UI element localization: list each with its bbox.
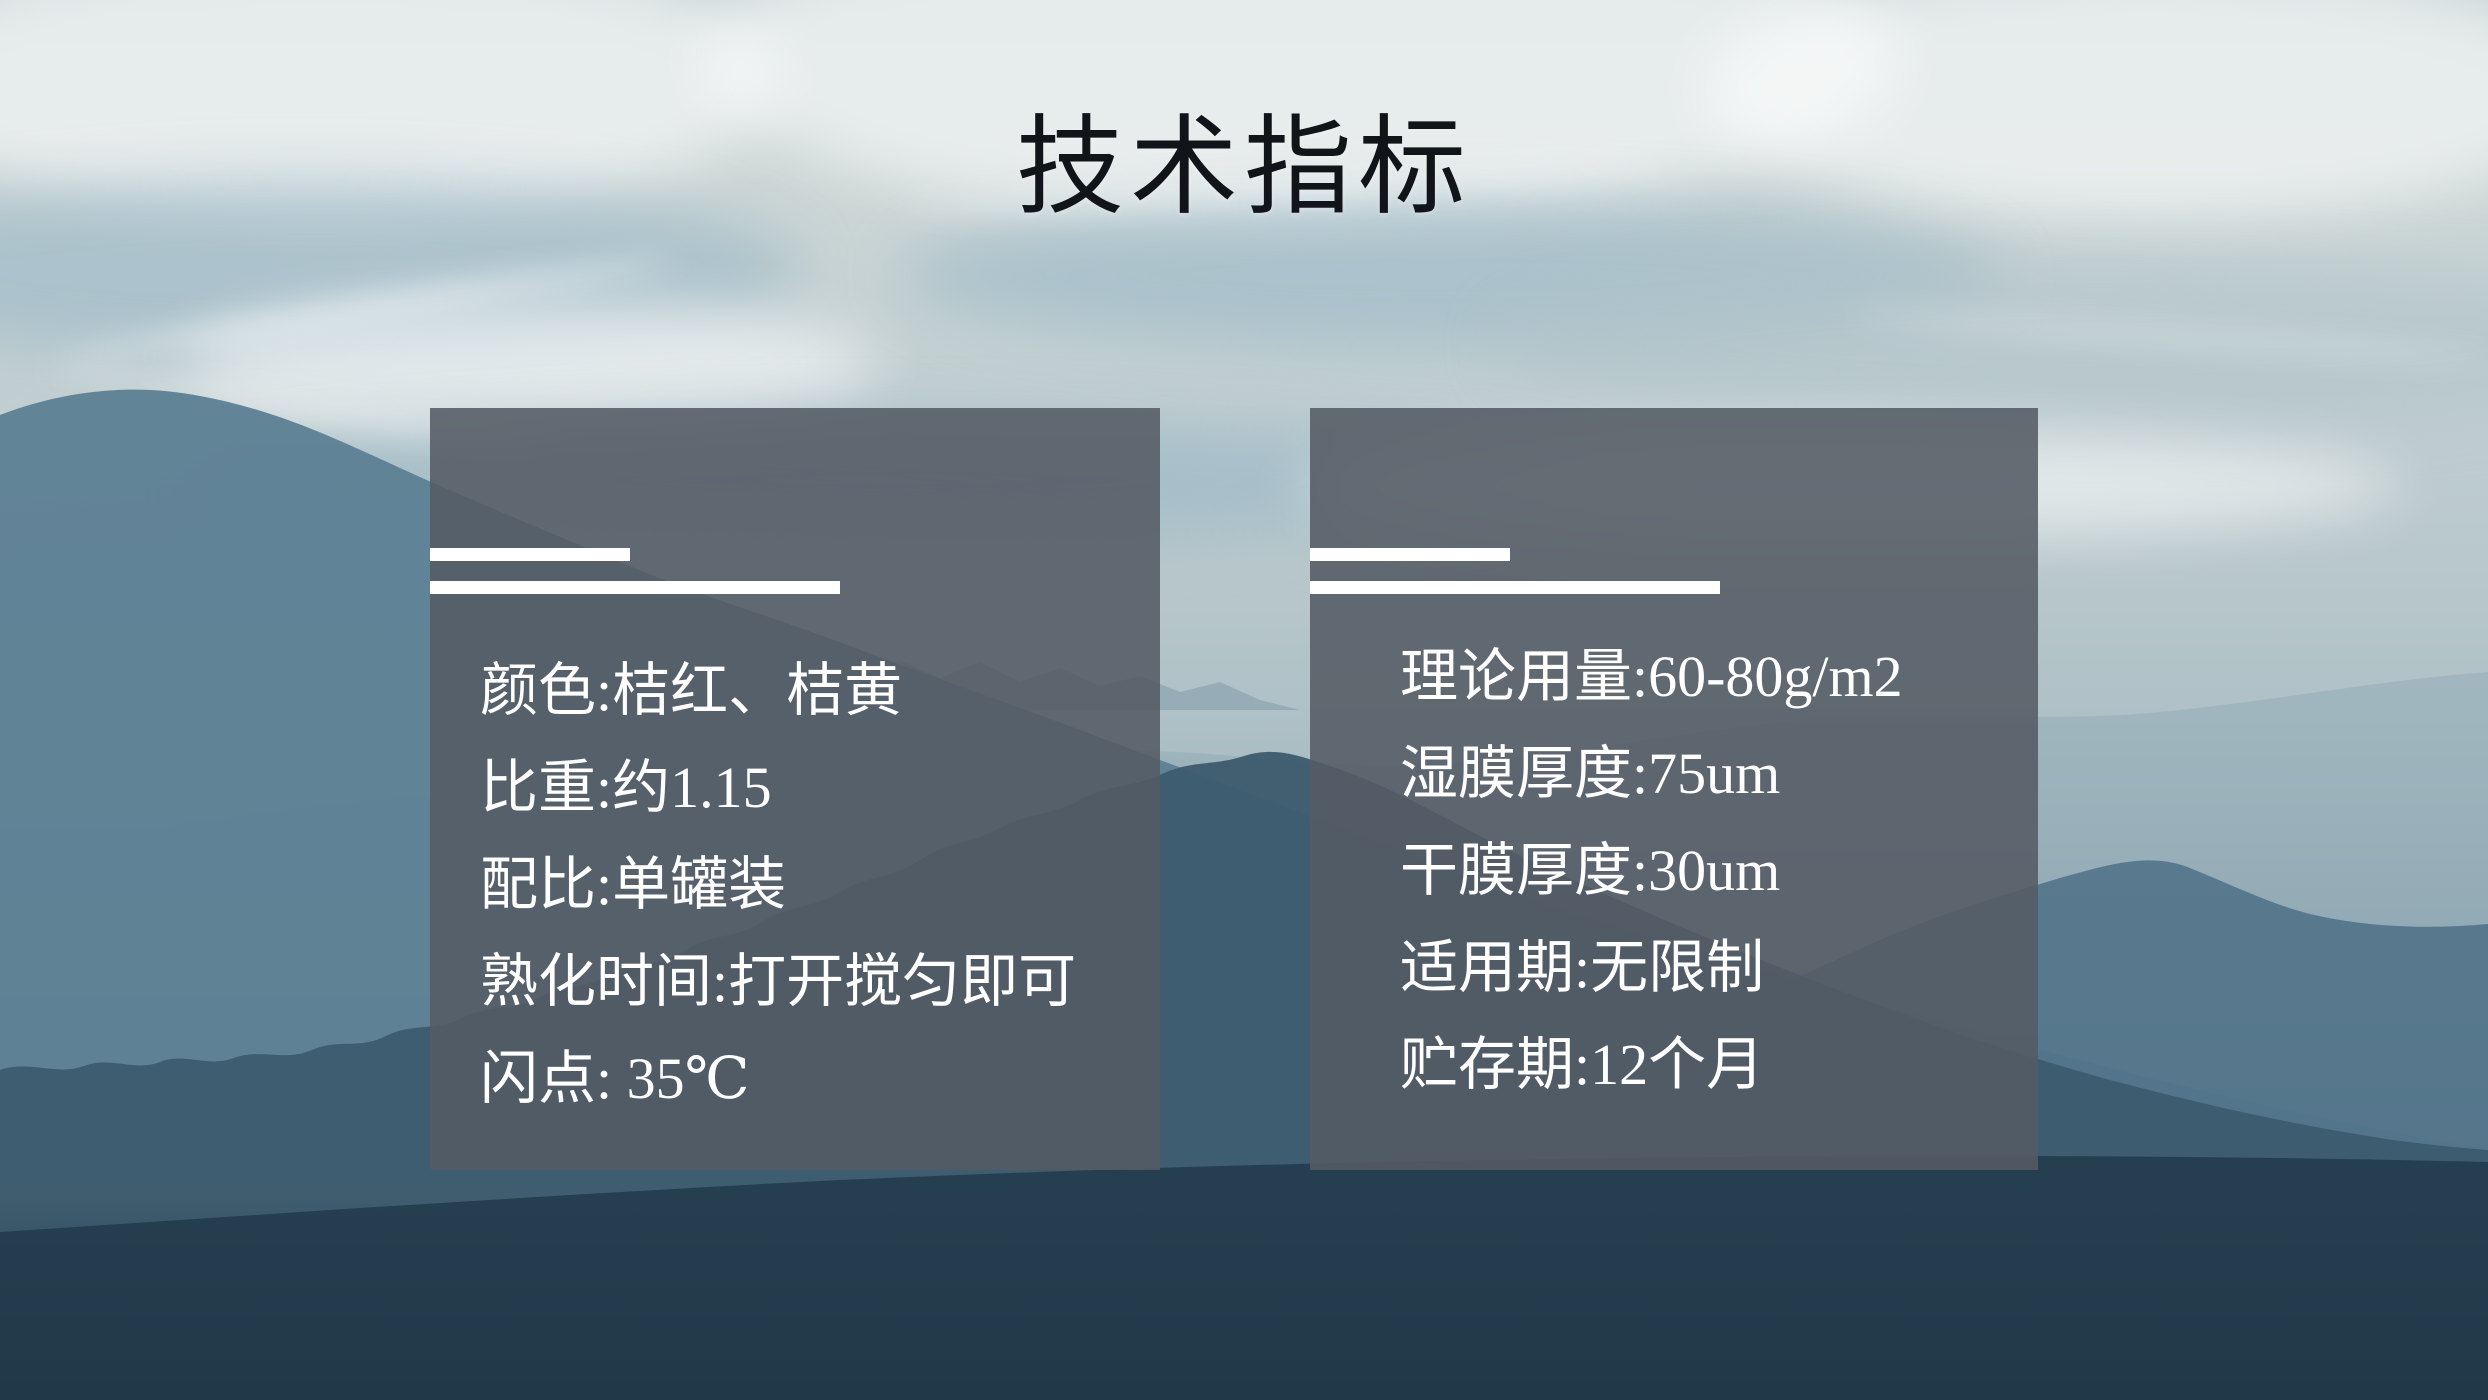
spec-line: 熟化时间:打开搅匀即可	[480, 933, 1076, 1030]
slide-canvas: 技术指标 颜色:桔红、桔黄 比重:约1.15 配比:单罐装 熟化时间:打开搅匀即…	[0, 0, 2488, 1400]
spec-line: 理论用量:60-80g/m2	[1400, 628, 1903, 725]
card-rule-group-left	[430, 548, 1160, 614]
spec-line: 配比:单罐装	[480, 836, 1076, 933]
rule-short	[1310, 548, 1510, 561]
card-rule-group-right	[1310, 548, 2038, 614]
rule-short	[430, 548, 630, 561]
spec-line: 贮存期:12个月	[1400, 1016, 1903, 1113]
spec-line: 比重:约1.15	[480, 739, 1076, 836]
rule-long	[1310, 581, 1720, 594]
spec-line: 干膜厚度:30um	[1400, 822, 1903, 919]
rule-long	[430, 581, 840, 594]
spec-line: 适用期:无限制	[1400, 919, 1903, 1016]
page-title: 技术指标	[0, 112, 2488, 225]
spec-line: 颜色:桔红、桔黄	[480, 642, 1076, 739]
spec-line: 闪点: 35℃	[480, 1030, 1076, 1127]
spec-line: 湿膜厚度:75um	[1400, 725, 1903, 822]
spec-card-left: 颜色:桔红、桔黄 比重:约1.15 配比:单罐装 熟化时间:打开搅匀即可 闪点:…	[430, 408, 1160, 1170]
spec-list-right: 理论用量:60-80g/m2 湿膜厚度:75um 干膜厚度:30um 适用期:无…	[1400, 628, 1903, 1113]
spec-card-right: 理论用量:60-80g/m2 湿膜厚度:75um 干膜厚度:30um 适用期:无…	[1310, 408, 2038, 1170]
spec-list-left: 颜色:桔红、桔黄 比重:约1.15 配比:单罐装 熟化时间:打开搅匀即可 闪点:…	[480, 642, 1076, 1127]
